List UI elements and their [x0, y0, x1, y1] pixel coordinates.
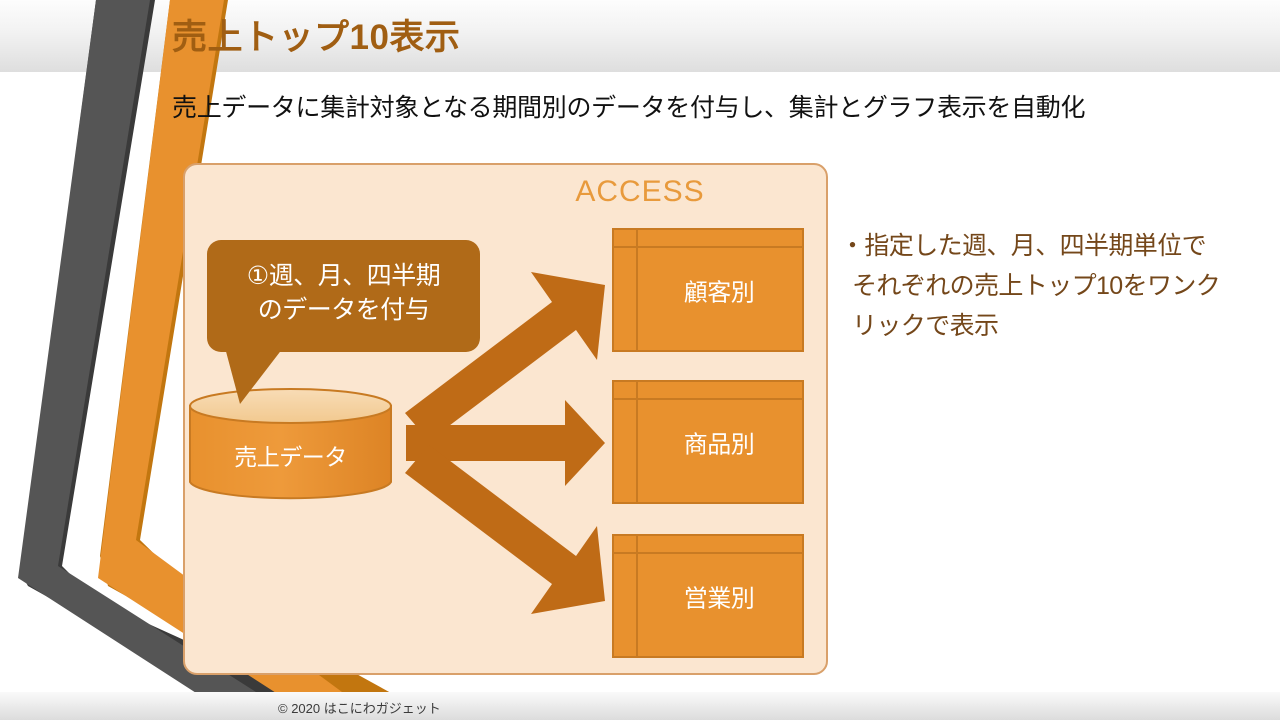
database-cylinder-label: 売上データ [188, 438, 393, 472]
callout-tail [224, 344, 294, 406]
callout-line-2: のデータを付与 [258, 296, 430, 324]
slide-canvas: 売上トップ10表示 売上データに集計対象となる期間別のデータを付与し、集計とグラ… [0, 0, 1280, 720]
callout-bubble: ①週、月、四半期 のデータを付与 [207, 240, 480, 352]
flow-arrows [0, 0, 1280, 720]
callout-line-1: ①週、月、四半期 [247, 262, 440, 290]
